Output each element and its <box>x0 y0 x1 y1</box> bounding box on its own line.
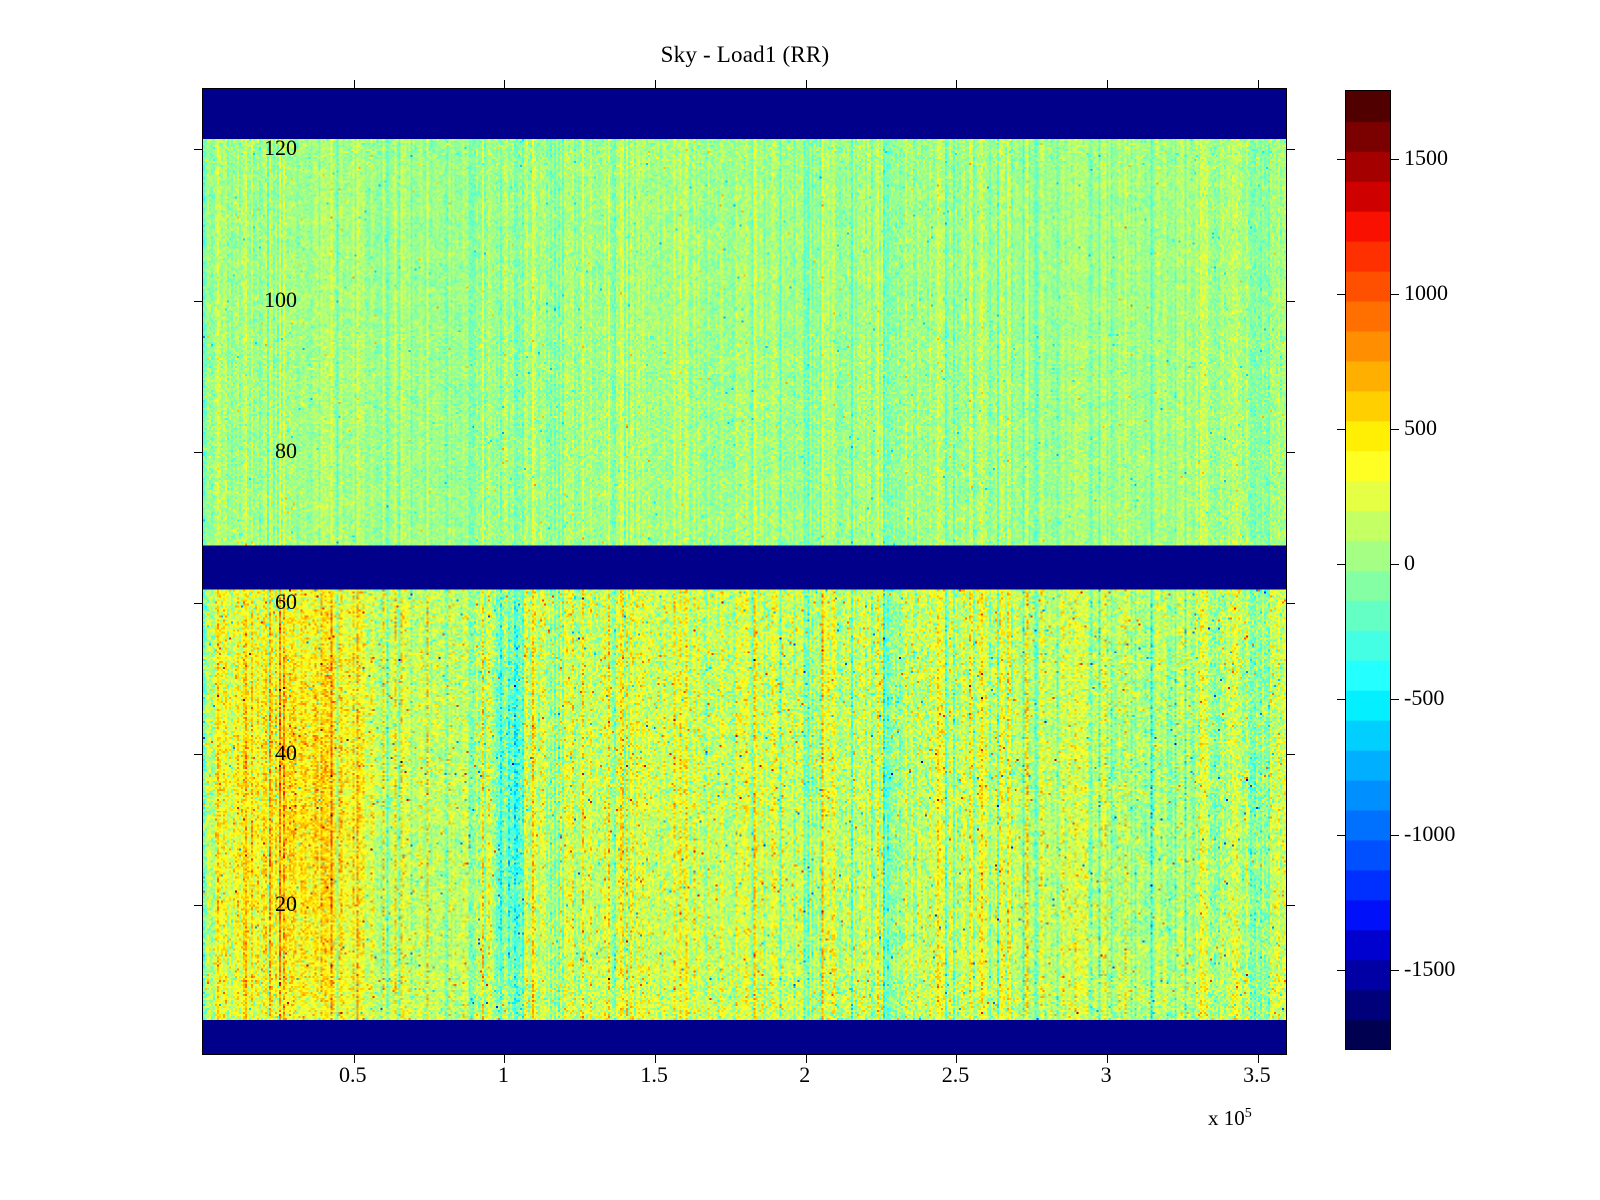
colorbar-tick <box>1337 159 1346 160</box>
x-axis-tick-label: 2 <box>799 1062 810 1088</box>
x-axis-multiplier: x 105 <box>1208 1106 1252 1131</box>
colorbar-gradient <box>1346 91 1390 1049</box>
y-axis-tick <box>1286 149 1295 150</box>
colorbar[interactable] <box>1345 90 1391 1050</box>
y-axis-tick <box>194 603 203 604</box>
heatmap-image <box>203 89 1286 1054</box>
figure-root: Sky - Load1 (RR) 20406080100120 0.511.52… <box>0 0 1600 1200</box>
x-axis-tick <box>806 80 807 89</box>
colorbar-tick <box>1337 699 1346 700</box>
colorbar-tick <box>1337 429 1346 430</box>
x-axis-tick-label: 3.5 <box>1243 1062 1271 1088</box>
colorbar-tick-label: 500 <box>1404 415 1437 441</box>
colorbar-tick <box>1390 294 1399 295</box>
colorbar-tick <box>1390 429 1399 430</box>
colorbar-tick <box>1390 159 1399 160</box>
colorbar-tick <box>1390 835 1399 836</box>
colorbar-tick <box>1390 564 1399 565</box>
y-axis-tick <box>194 905 203 906</box>
colorbar-tick <box>1390 699 1399 700</box>
colorbar-tick <box>1390 970 1399 971</box>
y-axis-tick-label: 100 <box>264 287 297 313</box>
y-axis-tick-label: 120 <box>264 135 297 161</box>
colorbar-tick-label: 0 <box>1404 550 1415 576</box>
colorbar-tick-label: 1500 <box>1404 145 1448 171</box>
x-axis-tick-label: 0.5 <box>339 1062 367 1088</box>
colorbar-tick-label: 1000 <box>1404 280 1448 306</box>
colorbar-tick <box>1337 294 1346 295</box>
x-axis-tick <box>504 80 505 89</box>
y-axis-tick-label: 20 <box>275 891 297 917</box>
x-axis-tick <box>354 80 355 89</box>
page-title: Sky - Load1 (RR) <box>0 42 1490 68</box>
y-axis-tick <box>1286 754 1295 755</box>
x-axis-tick-label: 2.5 <box>942 1062 970 1088</box>
x-axis-tick <box>1107 80 1108 89</box>
x-axis-tick <box>655 80 656 89</box>
y-axis-tick <box>1286 603 1295 604</box>
y-axis-tick <box>194 149 203 150</box>
colorbar-tick-label: -1000 <box>1404 821 1455 847</box>
y-axis-tick <box>1286 905 1295 906</box>
x-axis-multiplier-exponent: 5 <box>1245 1106 1252 1121</box>
x-axis-tick-label: 1 <box>498 1062 509 1088</box>
colorbar-tick <box>1337 835 1346 836</box>
colorbar-tick-label: -1500 <box>1404 956 1455 982</box>
y-axis-tick-label: 80 <box>275 438 297 464</box>
x-axis-tick <box>956 80 957 89</box>
y-axis-tick-label: 60 <box>275 589 297 615</box>
colorbar-tick <box>1337 970 1346 971</box>
colorbar-tick-label: -500 <box>1404 685 1444 711</box>
x-axis-multiplier-text: x 10 <box>1208 1106 1245 1130</box>
y-axis-tick <box>194 301 203 302</box>
x-axis-tick <box>1258 80 1259 89</box>
colorbar-tick <box>1337 564 1346 565</box>
x-axis-tick-label: 3 <box>1101 1062 1112 1088</box>
y-axis-tick <box>194 754 203 755</box>
y-axis-tick-label: 40 <box>275 740 297 766</box>
heatmap-axes[interactable] <box>202 88 1287 1055</box>
x-axis-tick-label: 1.5 <box>640 1062 668 1088</box>
y-axis-tick <box>194 452 203 453</box>
y-axis-tick <box>1286 301 1295 302</box>
y-axis-tick <box>1286 452 1295 453</box>
